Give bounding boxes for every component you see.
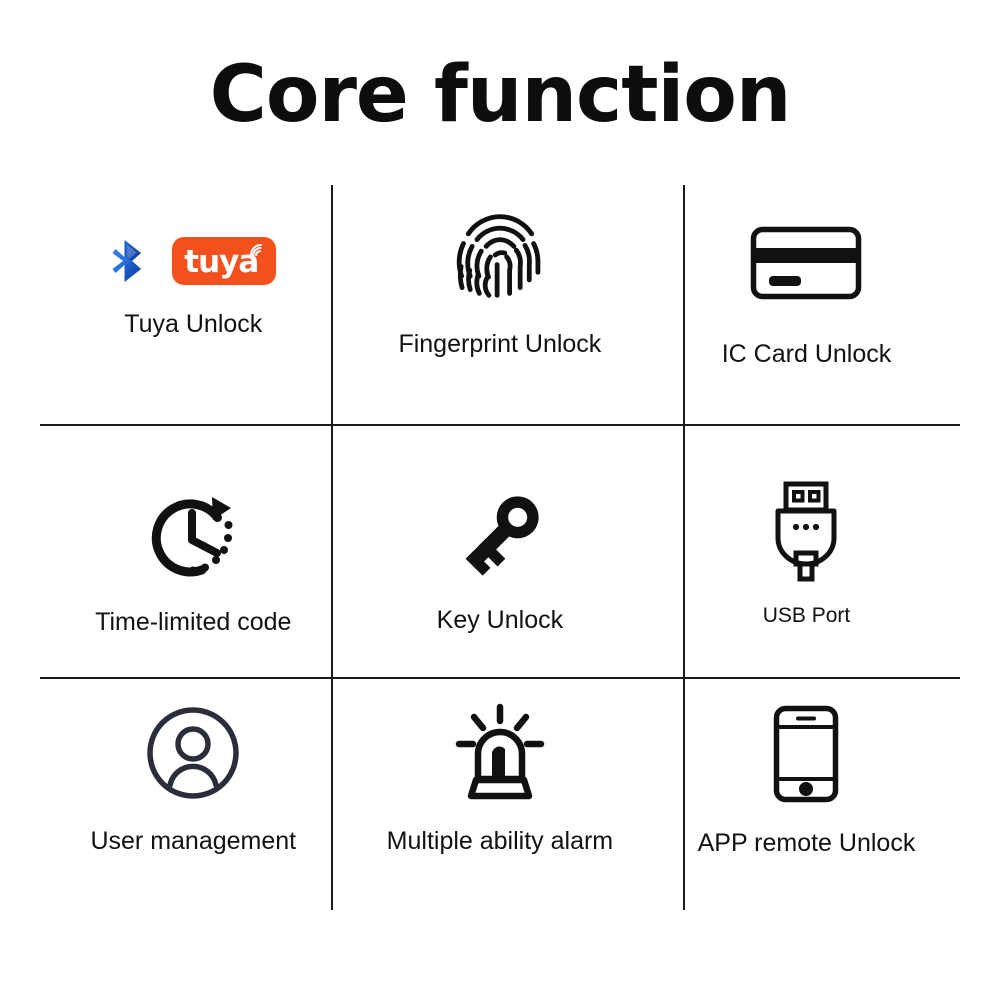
feature-grid: tuya Tuya Unlock <box>40 185 960 910</box>
feature-label-user-management: User management <box>90 826 296 856</box>
key-icon-wrap <box>452 485 548 585</box>
feature-cell-alarm[interactable]: Multiple ability alarm <box>347 668 654 910</box>
page-title: Core function <box>0 52 1000 138</box>
feature-cell-app-remote-unlock[interactable]: APP remote Unlock <box>653 668 960 910</box>
user-circle-icon <box>145 705 241 801</box>
ic-card-icon <box>750 226 862 300</box>
feature-cell-tuya-unlock[interactable]: tuya Tuya Unlock <box>40 185 347 427</box>
feature-cell-time-limited-code[interactable]: Time-limited code <box>40 427 347 669</box>
bluetooth-icon <box>110 235 156 287</box>
fingerprint-icon-wrap <box>452 207 548 303</box>
feature-cell-ic-card[interactable]: IC Card Unlock <box>653 185 960 427</box>
usb-connector-icon <box>769 480 843 582</box>
feature-label-app-remote-unlock: APP remote Unlock <box>698 828 916 858</box>
ic-card-icon-wrap <box>750 225 862 301</box>
tuya-bluetooth-logo: tuya <box>110 229 276 293</box>
siren-alarm-icon-wrap <box>450 700 550 804</box>
feature-cell-user-management[interactable]: User management <box>40 668 347 910</box>
smartphone-icon-wrap <box>773 704 839 804</box>
feature-label-alarm: Multiple ability alarm <box>387 826 613 856</box>
feature-label-time-limited-code: Time-limited code <box>95 607 291 637</box>
tuya-wordmark: tuya <box>184 247 258 278</box>
tuya-logo-badge: tuya <box>172 237 276 285</box>
core-function-panel: Core function <box>0 0 1000 1000</box>
feature-cell-key-unlock[interactable]: Key Unlock <box>347 427 654 669</box>
feature-cell-fingerprint[interactable]: Fingerprint Unlock <box>347 185 654 427</box>
clock-arrow-icon <box>143 487 243 585</box>
user-circle-icon-wrap <box>145 704 241 802</box>
feature-label-usb-port: USB Port <box>763 601 851 631</box>
feature-cell-usb-port[interactable]: USB Port <box>653 427 960 669</box>
siren-alarm-icon <box>450 702 550 802</box>
smartphone-icon <box>773 705 839 803</box>
fingerprint-icon <box>452 207 548 303</box>
wifi-signal-icon <box>249 242 267 258</box>
feature-label-tuya-unlock: Tuya Unlock <box>124 309 262 339</box>
clock-arrow-icon-wrap <box>143 487 243 585</box>
feature-label-ic-card: IC Card Unlock <box>722 339 892 369</box>
feature-label-key-unlock: Key Unlock <box>437 605 563 635</box>
feature-label-fingerprint: Fingerprint Unlock <box>398 329 601 359</box>
key-icon <box>452 486 548 584</box>
usb-connector-icon-wrap <box>769 479 843 583</box>
